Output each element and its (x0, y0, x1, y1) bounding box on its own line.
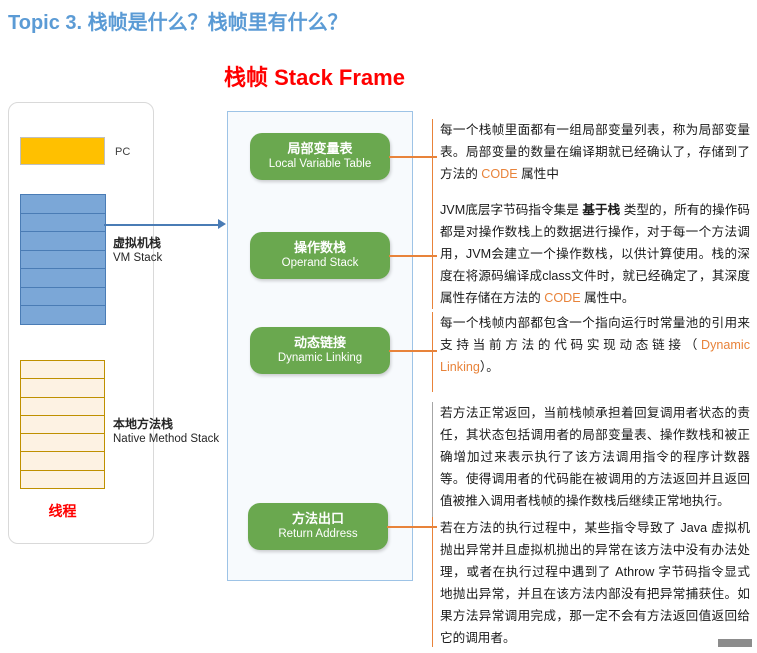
scroll-indicator[interactable] (718, 639, 752, 647)
text-run-0: 若在方法的执行过程中，某些指令导致了 Java 虚拟机抛出异常并且虚拟机抛出的异… (440, 521, 750, 645)
text-run-0: JVM底层字节码指令集是 (440, 203, 582, 217)
page-title: Topic 3. 栈帧是什么？栈帧里有什么？ (8, 6, 348, 35)
connector-operand-stack (389, 255, 437, 257)
native-method-stack-diagram (20, 360, 105, 495)
description-return-address-exception: 若在方法的执行过程中，某些指令导致了 Java 虚拟机抛出异常并且虚拟机抛出的异… (432, 517, 750, 647)
frame-box-3-cn: 方法出口 (248, 511, 388, 527)
frame-box-0-cn: 局部变量表 (250, 141, 390, 157)
text-run-2: ）。 (480, 360, 499, 374)
vm-stack-label-cn: 虚拟机栈 (113, 236, 162, 251)
native-method-stack-cell (20, 433, 105, 452)
text-run-0: 若方法正常返回，当前栈帧承担着回复调用者状态的责任，其状态包括调用者的局部变量表… (440, 406, 750, 508)
text-run-2: 属性中 (518, 167, 559, 181)
connector-return-address (387, 526, 437, 528)
description-return-address-normal: 若方法正常返回，当前栈帧承担着回复调用者状态的责任，其状态包括调用者的局部变量表… (432, 402, 750, 517)
native-stack-label-en: Native Method Stack (113, 432, 219, 447)
native-method-stack-cell (20, 451, 105, 470)
vm-stack-cell (20, 287, 106, 307)
vm-stack-cell (20, 268, 106, 288)
frame-box-local-variable-table: 局部变量表 Local Variable Table (250, 133, 390, 180)
vm-stack-cell (20, 213, 106, 233)
text-run-2: 类型的，所有的操作码都是对操作数栈上的数据进行操作，对于每一个方法调用，JVM会… (440, 203, 750, 305)
vm-stack-cell (20, 305, 106, 325)
frame-box-1-en: Operand Stack (250, 256, 390, 270)
text-run-4: 属性中。 (581, 291, 635, 305)
text-run-1: CODE (481, 167, 517, 181)
description-operand-stack: JVM底层字节码指令集是 基于栈 类型的，所有的操作码都是对操作数栈上的数据进行… (432, 199, 750, 309)
vm-stack-to-frame-arrow-line (104, 224, 222, 226)
vm-stack-diagram (20, 194, 106, 331)
frame-box-dynamic-linking: 动态链接 Dynamic Linking (250, 327, 390, 374)
diagram-title: 栈帧 Stack Frame (224, 60, 405, 92)
native-stack-label-cn: 本地方法栈 (113, 417, 219, 432)
frame-box-3-en: Return Address (248, 527, 388, 541)
frame-box-2-en: Dynamic Linking (250, 351, 390, 365)
thread-label: 线程 (20, 501, 105, 521)
frame-box-operand-stack: 操作数栈 Operand Stack (250, 232, 390, 279)
frame-box-1-cn: 操作数栈 (250, 240, 390, 256)
connector-dynamic-linking (389, 350, 437, 352)
native-method-stack-cell (20, 397, 105, 416)
vm-stack-to-frame-arrow-head-icon (218, 219, 226, 229)
connector-local-variable-table (389, 156, 437, 158)
description-dynamic-linking: 每一个栈帧内部都包含一个指向运行时常量池的引用来支持当前方法的代码实现动态链接（… (432, 312, 750, 392)
vm-stack-cell (20, 194, 106, 214)
frame-box-return-address: 方法出口 Return Address (248, 503, 388, 550)
frame-box-2-cn: 动态链接 (250, 335, 390, 351)
text-run-3: CODE (544, 291, 580, 305)
frame-box-0-en: Local Variable Table (250, 157, 390, 171)
native-method-stack-cell (20, 470, 105, 489)
native-method-stack-label: 本地方法栈 Native Method Stack (113, 417, 219, 447)
pc-register-box (20, 137, 105, 165)
pc-register-label: PC (115, 146, 130, 158)
native-method-stack-cell (20, 415, 105, 434)
vm-stack-label: 虚拟机栈 VM Stack (113, 236, 162, 266)
description-local-variable-table: 每一个栈帧里面都有一组局部变量列表，称为局部变量表。局部变量的数量在编译期就已经… (432, 119, 750, 199)
native-method-stack-cell (20, 378, 105, 397)
vm-stack-cell (20, 250, 106, 270)
native-method-stack-cell (20, 360, 105, 379)
vm-stack-cell (20, 231, 106, 251)
text-run-1: 基于栈 (582, 203, 620, 217)
vm-stack-label-en: VM Stack (113, 251, 162, 266)
